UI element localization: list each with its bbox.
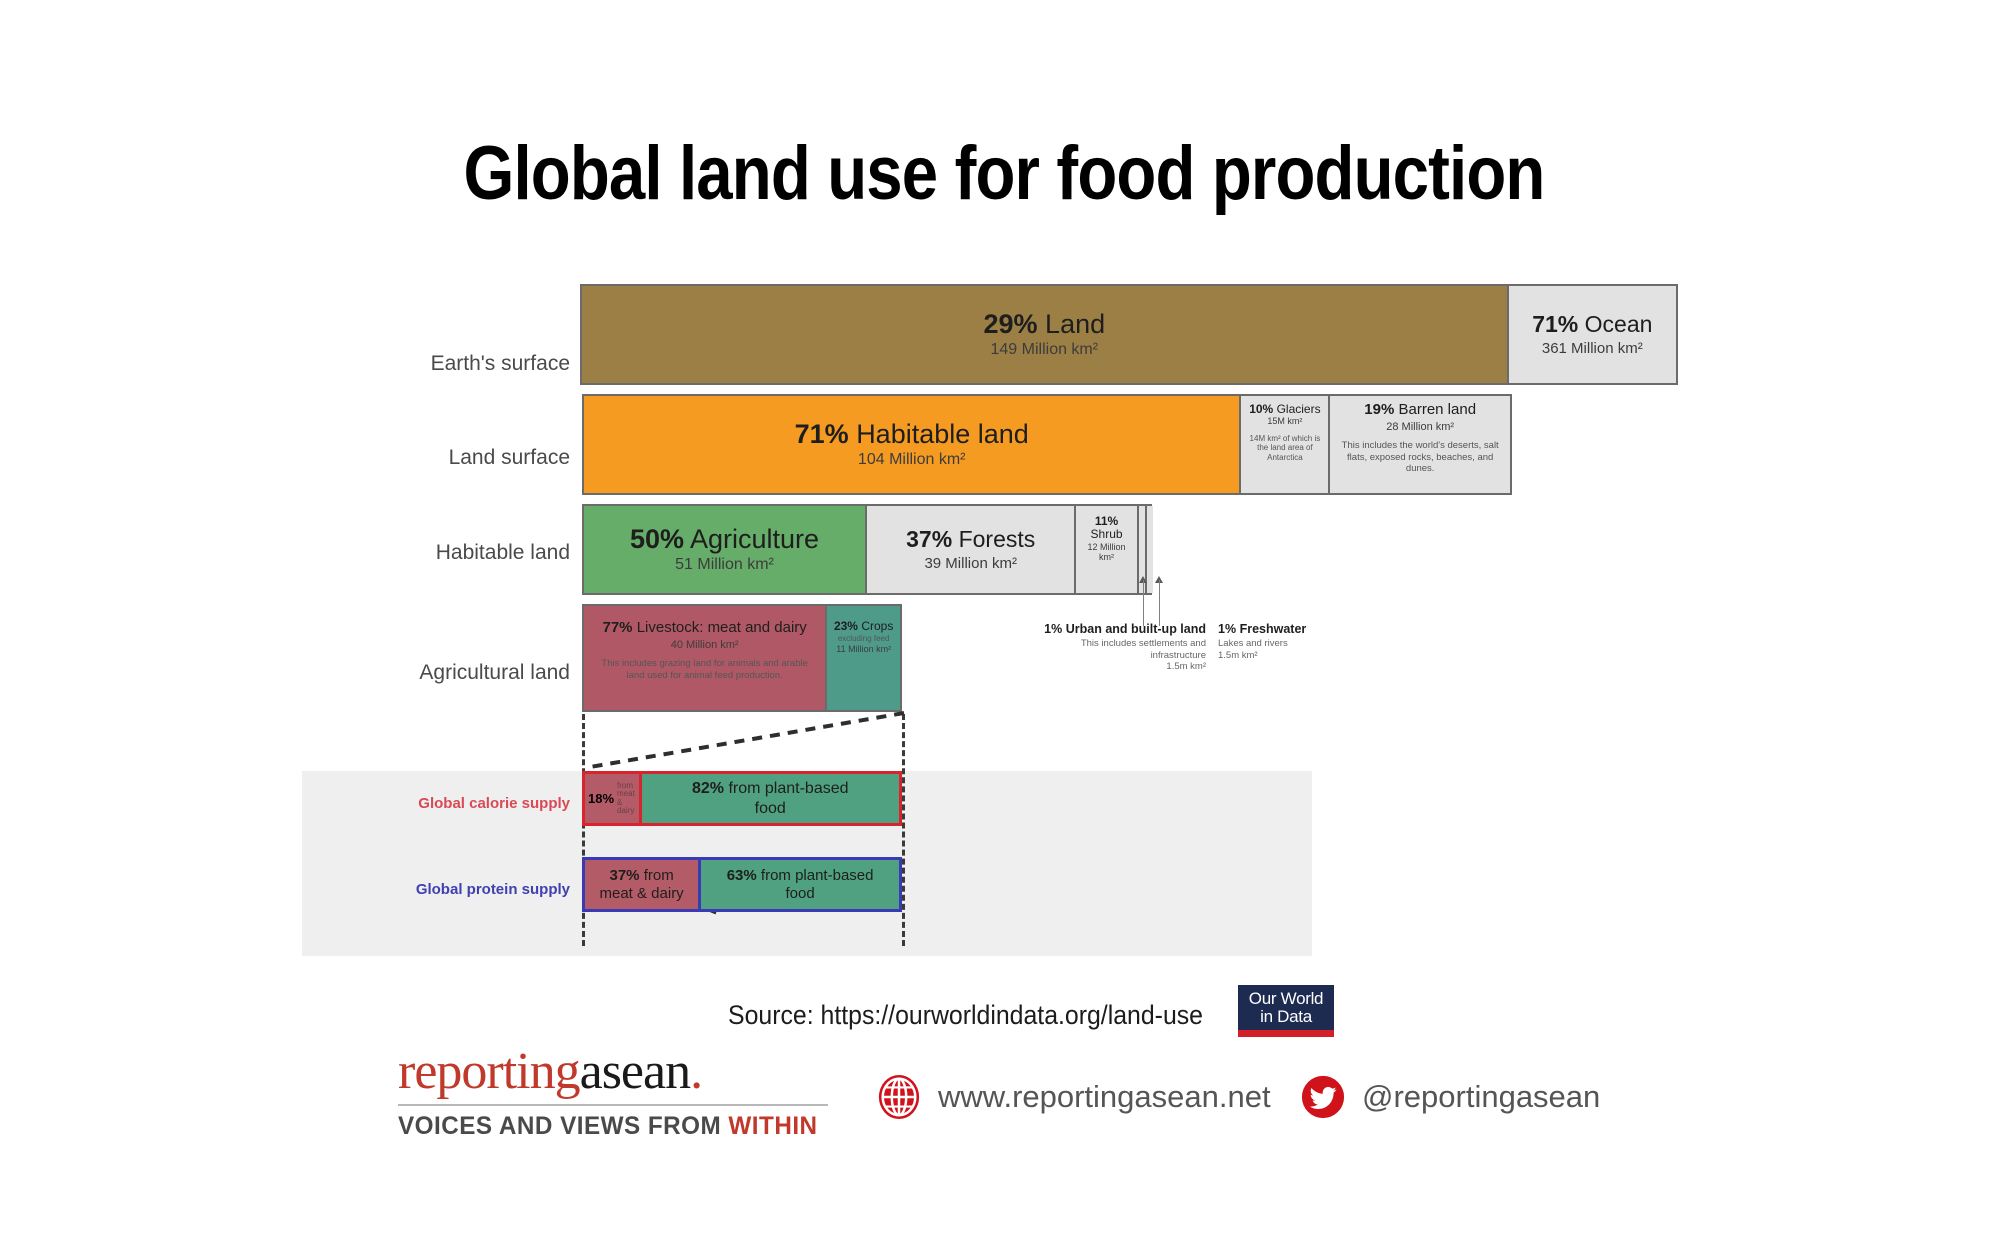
segment-protein-meat-heading: 37% from meat & dairy <box>599 867 683 903</box>
segment-barren-name: Barren land <box>1398 401 1476 418</box>
segment-agriculture-heading: 50% Agriculture <box>630 524 819 554</box>
segment-calorie-meat-pct: 18% <box>588 791 614 806</box>
segment-land-name: Land <box>1045 309 1105 339</box>
segment-habitable-heading: 71% Habitable land <box>795 419 1029 449</box>
bar-earths-surface: 29% Land 149 Million km² 71% Ocean 361 M… <box>580 284 1678 385</box>
row-label-land-surface: Land surface <box>270 446 570 469</box>
segment-calorie-meat-name: from meat & dairy <box>617 782 635 816</box>
segment-ocean-pct: 71% <box>1532 311 1578 337</box>
segment-protein-plant-heading: 63% from plant-based food <box>727 867 874 903</box>
twitter-handle: @reportingasean <box>1362 1079 1600 1115</box>
connector-lines <box>390 709 1330 959</box>
segment-livestock-note: This includes grazing land for animals a… <box>597 658 812 681</box>
reportingasean-logo: reportingasean. VOICES AND VIEWS FROM WI… <box>398 1046 828 1141</box>
segment-calorie-plant[interactable]: 82% from plant-based food <box>642 774 899 823</box>
segment-crops-pct: 23% <box>834 619 858 633</box>
brand-wordmark-black: asean <box>580 1043 690 1100</box>
segment-forests-heading: 37% Forests <box>906 527 1035 553</box>
bar-land-surface: 71% Habitable land 104 Million km² 10% G… <box>582 394 1512 495</box>
brand-wordmark-dot: . <box>690 1043 702 1100</box>
slide-root: Global land use for food production Eart… <box>0 0 2008 1234</box>
row-label-earths-surface: Earth's surface <box>270 352 570 375</box>
bar-protein-supply: 37% from meat & dairy 63% from plant-bas… <box>582 857 902 912</box>
twitter-icon <box>1300 1074 1346 1120</box>
row-label-habitable-land: Habitable land <box>270 541 570 564</box>
segment-forests[interactable]: 37% Forests 39 Million km² <box>867 506 1076 593</box>
segment-calorie-plant-name: from plant-based food <box>728 780 848 816</box>
segment-shrub-value: 12 Million km² <box>1079 542 1133 563</box>
callout-freshwater: 1% Freshwater Lakes and rivers 1.5m km² <box>1218 622 1368 661</box>
segment-crops-name: Crops <box>861 619 893 633</box>
segment-forests-name: Forests <box>959 526 1036 552</box>
segment-livestock-heading: 77% Livestock: meat and dairy <box>603 620 807 637</box>
segment-shrub-pct: 11% <box>1095 514 1118 528</box>
segment-land-pct: 29% <box>983 309 1037 339</box>
segment-ocean-heading: 71% Ocean <box>1532 312 1652 338</box>
segment-protein-meat-pct: 37% <box>609 867 639 884</box>
callout-freshwater-note: Lakes and rivers <box>1218 638 1368 650</box>
segment-ocean-name: Ocean <box>1585 311 1653 337</box>
segment-crops-heading: 23% Crops <box>834 620 893 633</box>
callout-urban: 1% Urban and built-up land This includes… <box>1031 622 1206 673</box>
segment-barren-note: This includes the world's deserts, salt … <box>1333 440 1507 474</box>
segment-forests-value: 39 Million km² <box>924 555 1017 572</box>
segment-crops[interactable]: 23% Crops excluding feed 11 Million km² <box>827 606 900 710</box>
segment-habitable-value: 104 Million km² <box>858 451 966 469</box>
bar-calorie-supply: 18% from meat & dairy 82% from plant-bas… <box>582 771 902 826</box>
segment-land[interactable]: 29% Land 149 Million km² <box>582 286 1509 383</box>
bar-agricultural-land: 77% Livestock: meat and dairy 40 Million… <box>582 604 902 712</box>
segment-shrub-name: Shrub <box>1091 527 1123 541</box>
globe-icon <box>876 1074 922 1120</box>
our-world-in-data-logo[interactable]: Our World in Data <box>1238 985 1334 1037</box>
segment-land-heading: 29% Land <box>983 309 1105 339</box>
brand-divider <box>398 1104 828 1106</box>
segment-livestock-name: Livestock: meat and dairy <box>637 619 807 636</box>
callout-urban-name: Urban and built-up land <box>1066 622 1206 636</box>
segment-forests-pct: 37% <box>906 526 952 552</box>
land-use-chart: Earth's surface 29% Land 149 Million km²… <box>390 284 1680 984</box>
segment-calorie-meat[interactable]: 18% from meat & dairy <box>585 774 642 823</box>
website-url: www.reportingasean.net <box>938 1079 1271 1115</box>
owid-logo-line2: in Data <box>1238 1008 1334 1026</box>
segment-calorie-plant-heading: 82% from plant-based food <box>685 779 855 817</box>
brand-wordmark: reportingasean. <box>398 1046 828 1098</box>
segment-habitable-pct: 71% <box>795 419 849 449</box>
brand-wordmark-red: reporting <box>398 1043 580 1100</box>
segment-barren-pct: 19% <box>1364 401 1394 418</box>
urban-leader-line <box>1143 580 1144 626</box>
segment-livestock-value: 40 Million km² <box>671 639 739 652</box>
brand-tagline: VOICES AND VIEWS FROM WITHIN <box>398 1112 815 1141</box>
segment-ocean-value: 361 Million km² <box>1542 340 1643 357</box>
callout-urban-note: This includes settlements and infrastruc… <box>1031 638 1206 662</box>
bar-habitable-land: 50% Agriculture 51 Million km² 37% Fores… <box>582 504 1152 595</box>
segment-glaciers-name: Glaciers <box>1277 402 1321 416</box>
segment-shrub-heading: 11% Shrub <box>1079 515 1133 542</box>
website-footer-item[interactable]: www.reportingasean.net <box>876 1074 1271 1120</box>
segment-barren-heading: 19% Barren land <box>1364 402 1476 419</box>
callout-urban-pct: 1% <box>1044 622 1062 636</box>
segment-agriculture-pct: 50% <box>630 524 684 554</box>
owid-logo-line1: Our World <box>1238 990 1334 1008</box>
callout-freshwater-name: Freshwater <box>1240 622 1307 636</box>
segment-crops-note: excluding feed <box>838 634 890 644</box>
twitter-footer-item[interactable]: @reportingasean <box>1300 1074 1600 1120</box>
segment-glaciers[interactable]: 10% Glaciers 15M km² 14M km² of which is… <box>1241 396 1330 493</box>
segment-crops-value: 11 Million km² <box>836 644 891 654</box>
segment-shrub[interactable]: 11% Shrub 12 Million km² <box>1076 506 1138 593</box>
brand-tagline-highlight: WITHIN <box>728 1112 817 1140</box>
segment-glaciers-heading: 10% Glaciers <box>1249 403 1320 416</box>
segment-habitable-name: Habitable land <box>856 419 1029 449</box>
source-text: Source: https://ourworldindata.org/land-… <box>728 1000 1203 1031</box>
callout-freshwater-pct: 1% <box>1218 622 1236 636</box>
segment-agriculture-value: 51 Million km² <box>675 556 774 574</box>
segment-barren-land[interactable]: 19% Barren land 28 Million km² This incl… <box>1330 396 1510 493</box>
segment-freshwater-sliver[interactable] <box>1147 506 1153 593</box>
segment-protein-plant-name: from plant-based <box>761 867 874 884</box>
segment-barren-value: 28 Million km² <box>1386 421 1454 434</box>
segment-livestock[interactable]: 77% Livestock: meat and dairy 40 Million… <box>584 606 827 710</box>
segment-glaciers-pct: 10% <box>1249 402 1273 416</box>
segment-protein-meat-name: from <box>644 867 674 884</box>
segment-agriculture-name: Agriculture <box>690 524 819 554</box>
segment-livestock-pct: 77% <box>603 619 633 636</box>
freshwater-leader-line <box>1159 580 1160 626</box>
segment-protein-plant-name2: food <box>727 885 874 903</box>
segment-protein-meat[interactable]: 37% from meat & dairy <box>585 860 701 909</box>
segment-glaciers-value: 15M km² <box>1267 416 1302 426</box>
callout-urban-value: 1.5m km² <box>1031 661 1206 673</box>
segment-protein-plant[interactable]: 63% from plant-based food <box>701 860 899 909</box>
callout-freshwater-value: 1.5m km² <box>1218 650 1368 662</box>
page-title: Global land use for food production <box>141 130 1868 217</box>
row-label-calorie-supply: Global calorie supply <box>270 796 570 813</box>
row-label-agricultural-land: Agricultural land <box>270 661 570 684</box>
segment-protein-plant-pct: 63% <box>727 867 757 884</box>
segment-agriculture[interactable]: 50% Agriculture 51 Million km² <box>584 506 867 593</box>
segment-habitable-land[interactable]: 71% Habitable land 104 Million km² <box>584 396 1241 493</box>
segment-ocean[interactable]: 71% Ocean 361 Million km² <box>1509 286 1676 383</box>
brand-tagline-main: VOICES AND VIEWS FROM <box>398 1112 728 1140</box>
row-label-protein-supply: Global protein supply <box>270 882 570 899</box>
segment-glaciers-note: 14M km² of which is the land area of Ant… <box>1244 434 1325 463</box>
segment-calorie-plant-pct: 82% <box>692 780 724 797</box>
segment-land-value: 149 Million km² <box>991 341 1099 359</box>
segment-protein-meat-name2: meat & dairy <box>599 885 683 903</box>
